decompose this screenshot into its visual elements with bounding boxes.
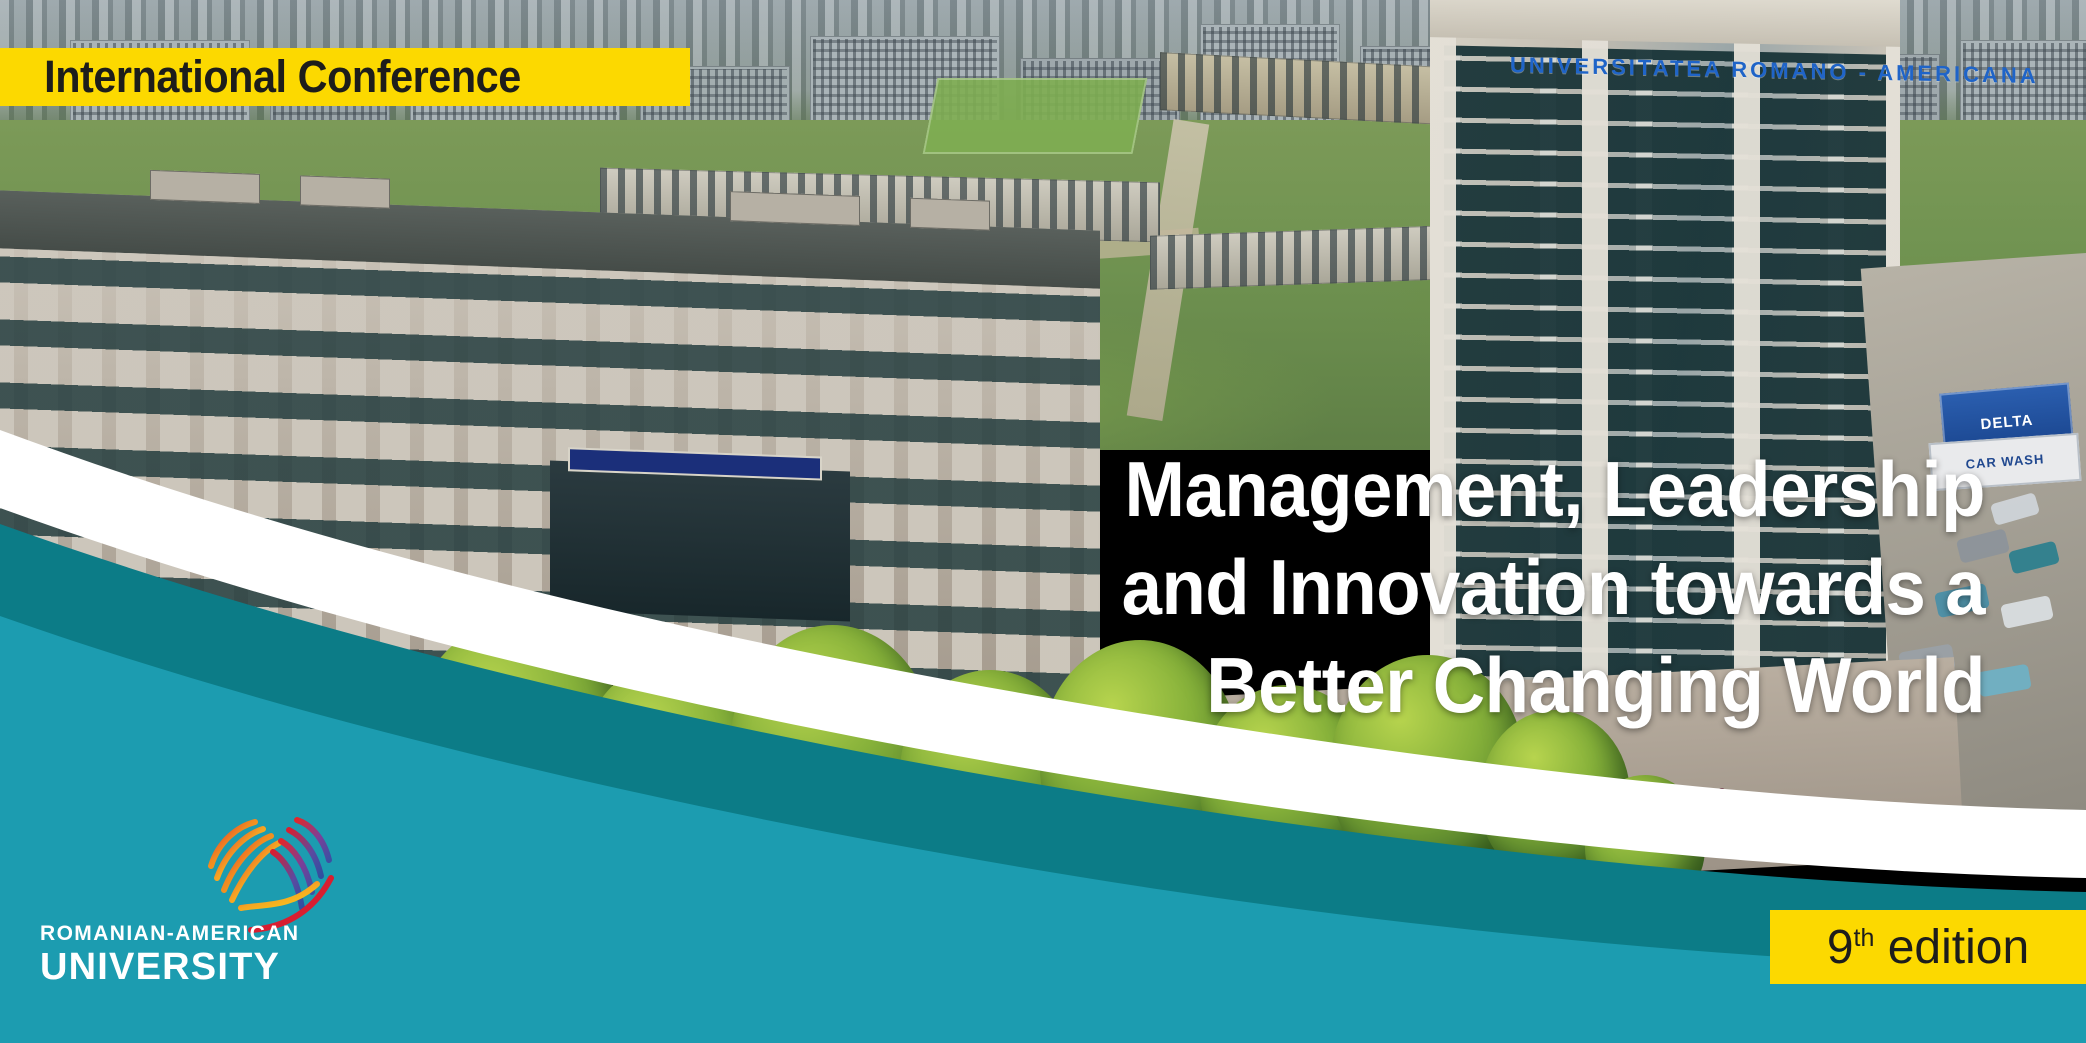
conference-title: Management, Leadership and Innovation to… xyxy=(685,440,1985,734)
university-logo: ROMANIAN-AMERICAN UNIVERSITY xyxy=(40,860,370,1000)
conference-banner: UNIVERSITATEA ROMANO - AMERICANA DELTA C… xyxy=(0,0,2086,1043)
university-logo-text: ROMANIAN-AMERICAN UNIVERSITY xyxy=(40,922,299,988)
romanian-american-university-swoosh-icon xyxy=(205,816,335,934)
university-name-line-1: ROMANIAN-AMERICAN xyxy=(40,922,299,946)
edition-badge-label: 9th edition xyxy=(1827,920,2029,975)
edition-number: 9 xyxy=(1827,921,1854,974)
title-line-1: Management, Leadership xyxy=(776,440,1985,538)
edition-ordinal-suffix: th xyxy=(1854,924,1875,952)
university-name-line-2: UNIVERSITY xyxy=(40,946,299,988)
conference-badge-label: International Conference xyxy=(0,51,521,103)
edition-badge: 9th edition xyxy=(1770,910,2086,984)
edition-word: edition xyxy=(1888,921,2029,974)
title-line-2: and Innovation towards a xyxy=(776,538,1985,636)
international-conference-badge: International Conference xyxy=(0,48,690,106)
title-line-3: Better Changing World xyxy=(776,636,1985,734)
